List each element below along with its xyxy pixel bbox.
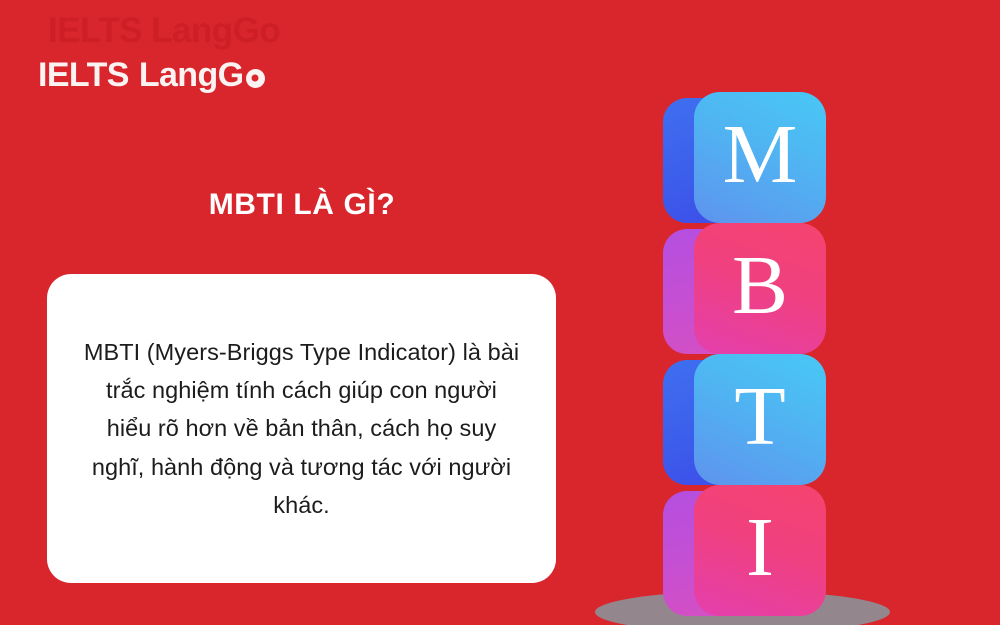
definition-card: MBTI (Myers-Briggs Type Indicator) là bà… xyxy=(47,274,556,583)
ghost-watermark-logo: IELTSLangGo xyxy=(48,13,280,48)
ghost-logo-langgo: LangG xyxy=(151,11,259,50)
definition-text: MBTI (Myers-Briggs Type Indicator) là bà… xyxy=(81,333,522,524)
logo-text-ielts: IELTS xyxy=(38,58,129,92)
infographic-canvas: IELTSLangGo IELTSLangG MBTI LÀ GÌ? MBTI … xyxy=(0,0,1000,625)
block-front-face: M xyxy=(694,92,826,223)
page-title: MBTI LÀ GÌ? xyxy=(0,188,604,221)
letter-block-b[interactable]: B xyxy=(663,223,826,354)
block-letter: B xyxy=(732,244,788,328)
letter-block-t[interactable]: T xyxy=(663,354,826,485)
block-letter: M xyxy=(723,113,798,197)
logo-text-langgo: LangG xyxy=(139,58,244,92)
logo-ring-icon xyxy=(246,69,265,88)
ghost-logo-ielts: IELTS xyxy=(48,11,142,50)
block-front-face: B xyxy=(694,223,826,354)
mbti-block-stack: M B T I xyxy=(560,70,960,625)
letter-block-m[interactable]: M xyxy=(663,92,826,223)
letter-block-i[interactable]: I xyxy=(663,485,826,616)
brand-logo[interactable]: IELTSLangG xyxy=(38,58,265,92)
block-letter: T xyxy=(734,375,785,459)
ghost-logo-o: o xyxy=(259,11,280,50)
block-front-face: I xyxy=(694,485,826,616)
block-front-face: T xyxy=(694,354,826,485)
block-letter: I xyxy=(746,506,774,590)
